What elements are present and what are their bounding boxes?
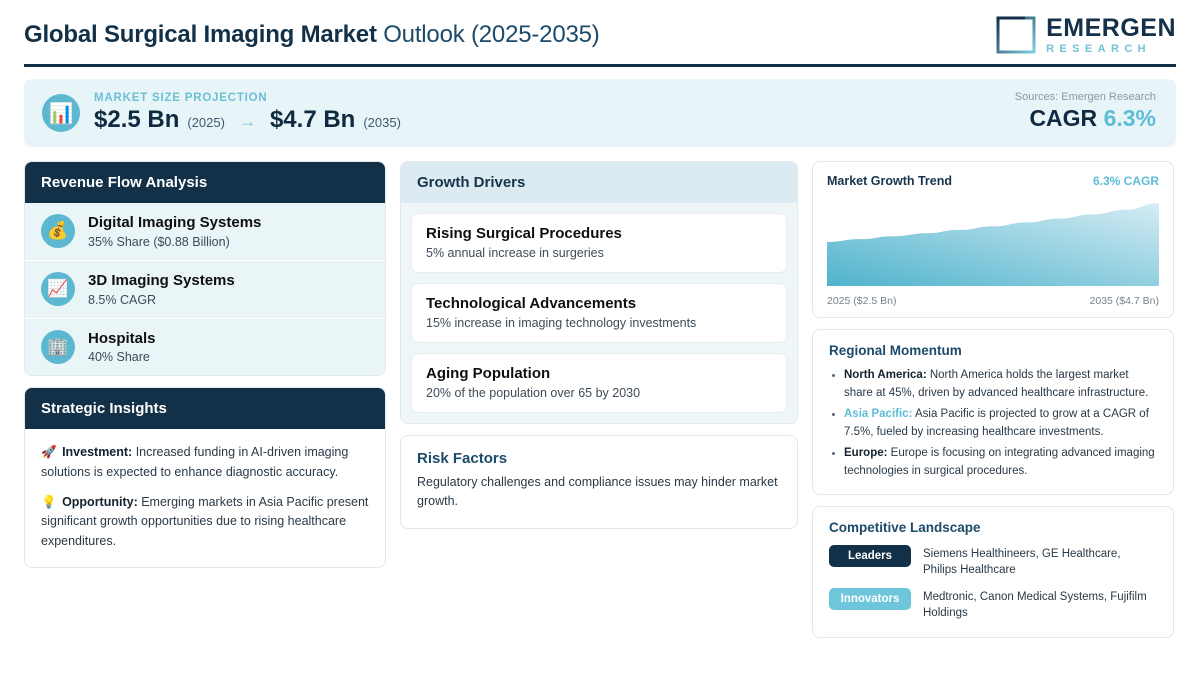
region-text: Europe is focusing on integrating advanc…: [844, 447, 1155, 477]
risk-factors-body: Regulatory challenges and compliance iss…: [417, 473, 781, 512]
axis-label-end: 2035 ($4.7 Bn): [1090, 295, 1159, 307]
list-item: Asia Pacific: Asia Pacific is projected …: [829, 405, 1157, 442]
content-columns: Revenue Flow Analysis 💰 Digital Imaging …: [24, 161, 1176, 638]
list-item: Europe: Europe is focusing on integratin…: [829, 444, 1157, 481]
risk-factors-title: Risk Factors: [417, 450, 781, 467]
list-item: North America: North America holds the l…: [829, 366, 1157, 403]
revenue-flow-card: Revenue Flow Analysis 💰 Digital Imaging …: [24, 161, 386, 376]
list-item[interactable]: Technological Advancements 15% increase …: [411, 283, 787, 343]
regional-momentum-list: North America: North America holds the l…: [829, 366, 1157, 480]
page-header: Global Surgical Imaging Market Outlook (…: [24, 0, 1176, 58]
risk-factors-card: Risk Factors Regulatory challenges and c…: [400, 435, 798, 529]
strategic-insights-body: 🚀 Investment: Increased funding in AI-dr…: [25, 429, 385, 567]
list-item-text: Hospitals 40% Share: [88, 330, 156, 365]
hospital-building-icon: 🏢: [41, 330, 75, 364]
list-item[interactable]: Rising Surgical Procedures 5% annual inc…: [411, 213, 787, 273]
list-item-text: Digital Imaging Systems 35% Share ($0.88…: [88, 214, 261, 249]
market-size-2035: $4.7 Bn: [270, 106, 355, 134]
market-growth-trend-card: Market Growth Trend 6.3% CAGR: [812, 161, 1174, 318]
banner-kicker: MARKET SIZE PROJECTION: [94, 92, 401, 104]
list-item-sub: 35% Share ($0.88 Billion): [88, 235, 261, 249]
trend-cagr-badge: 6.3% CAGR: [1093, 174, 1159, 188]
left-column: Revenue Flow Analysis 💰 Digital Imaging …: [24, 161, 386, 568]
regional-momentum-card: Regional Momentum North America: North A…: [812, 329, 1174, 495]
insight-label: Opportunity:: [62, 495, 138, 509]
insight-item: 💡 Opportunity: Emerging markets in Asia …: [41, 493, 369, 551]
status-badge-innovators: Innovators: [829, 588, 911, 610]
market-size-banner: 📊 MARKET SIZE PROJECTION $2.5 Bn (2025) …: [24, 79, 1176, 147]
page-title-light: Outlook (2025-2035): [377, 21, 600, 48]
trend-title: Market Growth Trend: [827, 174, 952, 188]
region-label: North America:: [844, 369, 927, 381]
square-outline-icon: [995, 15, 1037, 55]
lightbulb-icon: 💡: [41, 495, 57, 509]
list-item-sub: 8.5% CAGR: [88, 293, 235, 307]
competitive-landscape-title: Competitive Landscape: [829, 520, 1157, 535]
page-title-strong: Global Surgical Imaging Market: [24, 21, 377, 48]
region-label: Asia Pacific:: [844, 408, 912, 420]
insight-label: Investment:: [62, 445, 132, 459]
driver-sub: 15% increase in imaging technology inves…: [426, 316, 772, 330]
page-title: Global Surgical Imaging Market Outlook (…: [24, 21, 600, 49]
leaders-company-list: Siemens Healthineers, GE Healthcare, Phi…: [923, 545, 1157, 578]
driver-sub: 5% annual increase in surgeries: [426, 246, 772, 260]
cagr-display: CAGR 6.3%: [1015, 105, 1156, 132]
brand-logo: EMERGEN RESEARCH: [995, 15, 1176, 55]
banner-body: MARKET SIZE PROJECTION $2.5 Bn (2025) → …: [94, 92, 401, 134]
region-label: Europe:: [844, 447, 887, 459]
trend-axis-labels: 2025 ($2.5 Bn) 2035 ($4.7 Bn): [827, 295, 1159, 307]
cagr-label: CAGR: [1029, 105, 1103, 131]
sources-label: Sources: Emergen Research: [1015, 91, 1156, 103]
driver-title: Aging Population: [426, 365, 772, 382]
revenue-flow-header: Revenue Flow Analysis: [25, 162, 385, 203]
trend-header: Market Growth Trend 6.3% CAGR: [827, 174, 1159, 188]
list-item-text: 3D Imaging Systems 8.5% CAGR: [88, 272, 235, 307]
money-bag-icon: 💰: [41, 214, 75, 248]
insight-item: 🚀 Investment: Increased funding in AI-dr…: [41, 443, 369, 482]
regional-momentum-title: Regional Momentum: [829, 343, 1157, 358]
driver-title: Technological Advancements: [426, 295, 772, 312]
area-chart-svg: [827, 198, 1159, 286]
driver-title: Rising Surgical Procedures: [426, 225, 772, 242]
list-item-title: 3D Imaging Systems: [88, 272, 235, 291]
market-size-2035-year: (2035): [363, 115, 401, 130]
market-size-2025-year: (2025): [187, 115, 225, 130]
cagr-value: 6.3%: [1104, 105, 1156, 131]
middle-column: Growth Drivers Rising Surgical Procedure…: [400, 161, 798, 529]
brand-name: EMERGEN: [1046, 16, 1176, 41]
growth-drivers-header: Growth Drivers: [401, 162, 797, 203]
brand-wordmark: EMERGEN RESEARCH: [1046, 16, 1176, 55]
innovators-company-list: Medtronic, Canon Medical Systems, Fujifi…: [923, 588, 1157, 621]
list-item: Innovators Medtronic, Canon Medical Syst…: [829, 588, 1157, 621]
revenue-flow-list: 💰 Digital Imaging Systems 35% Share ($0.…: [25, 203, 385, 375]
infographic-page: Global Surgical Imaging Market Outlook (…: [0, 0, 1200, 700]
driver-sub: 20% of the population over 65 by 2030: [426, 386, 772, 400]
right-column: Market Growth Trend 6.3% CAGR: [812, 161, 1174, 638]
bar-chart-icon: 📊: [42, 94, 80, 132]
brand-tagline: RESEARCH: [1046, 44, 1176, 55]
arrow-right-icon: →: [239, 112, 256, 132]
list-item[interactable]: 🏢 Hospitals 40% Share: [25, 318, 385, 376]
strategic-insights-card: Strategic Insights 🚀 Investment: Increas…: [24, 387, 386, 568]
competitive-landscape-card: Competitive Landscape Leaders Siemens He…: [812, 506, 1174, 638]
list-item-title: Digital Imaging Systems: [88, 214, 261, 233]
status-badge-leaders: Leaders: [829, 545, 911, 567]
rocket-icon: 🚀: [41, 445, 57, 459]
banner-cagr-block: Sources: Emergen Research CAGR 6.3%: [1015, 91, 1156, 132]
growth-drivers-list: Rising Surgical Procedures 5% annual inc…: [401, 203, 797, 423]
list-item[interactable]: 📈 3D Imaging Systems 8.5% CAGR: [25, 260, 385, 318]
list-item[interactable]: Aging Population 20% of the population o…: [411, 353, 787, 413]
list-item-title: Hospitals: [88, 330, 156, 349]
list-item: Leaders Siemens Healthineers, GE Healthc…: [829, 545, 1157, 578]
axis-label-start: 2025 ($2.5 Bn): [827, 295, 896, 307]
list-item-sub: 40% Share: [88, 350, 156, 364]
chart-increasing-icon: 📈: [41, 272, 75, 306]
header-divider: [24, 64, 1176, 67]
banner-figures: $2.5 Bn (2025) → $4.7 Bn (2035): [94, 106, 401, 134]
area-chart: [827, 198, 1159, 291]
list-item[interactable]: 💰 Digital Imaging Systems 35% Share ($0.…: [25, 203, 385, 260]
market-size-2025: $2.5 Bn: [94, 106, 179, 134]
strategic-insights-header: Strategic Insights: [25, 388, 385, 429]
growth-drivers-card: Growth Drivers Rising Surgical Procedure…: [400, 161, 798, 424]
